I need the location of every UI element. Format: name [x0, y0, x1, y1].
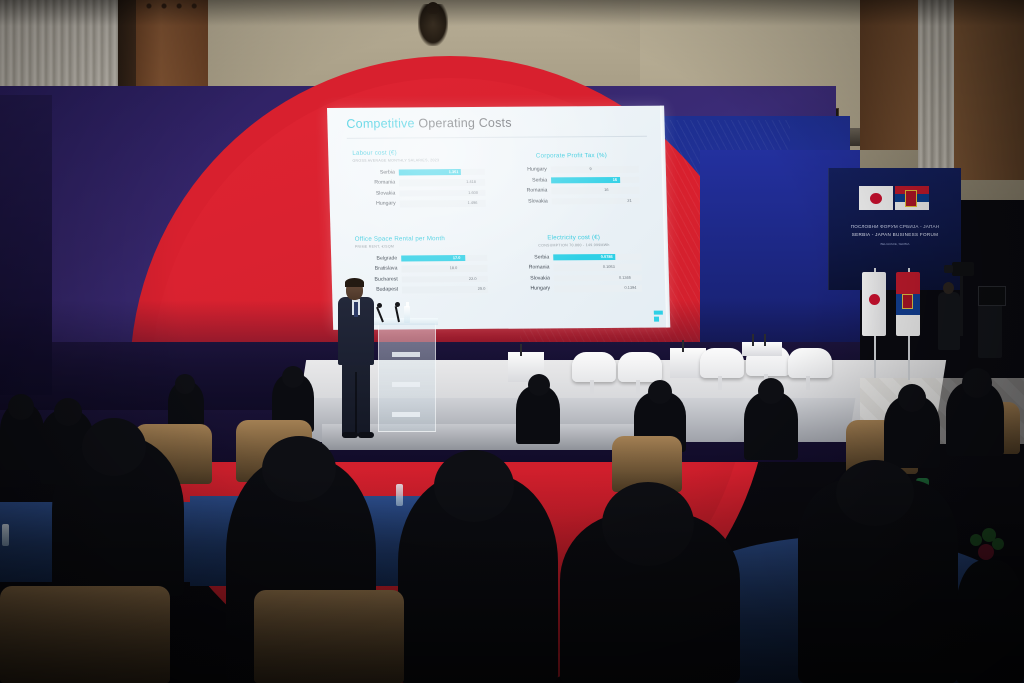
- audience-head: [262, 436, 336, 502]
- chart-title: Electricity cost (€): [507, 234, 641, 242]
- row-track: 1.351: [399, 168, 485, 175]
- banner-title-cyrillic: ПОСЛОВНИ ФОРУМ СРБИЈА - ЈАПАН: [833, 224, 957, 229]
- slide-title-highlight: Competitive: [346, 116, 415, 130]
- serbia-flag: [896, 272, 920, 336]
- slide-title-rest: Operating Costs: [414, 116, 511, 131]
- panel-chair: [618, 352, 662, 382]
- row-value: 1.351: [449, 169, 459, 174]
- row-value: 0.1365: [619, 275, 631, 280]
- monitor-screen: [978, 286, 1006, 306]
- row-track: 0.1394: [554, 285, 642, 292]
- row-track: 15: [551, 176, 639, 183]
- speaker-hair: [345, 278, 364, 287]
- speaker-leg-split: [355, 372, 357, 434]
- water-bottle: [396, 484, 403, 506]
- row-label: Belgrade: [355, 255, 401, 261]
- row-value: 18.0: [450, 265, 458, 270]
- audience-head: [282, 366, 304, 388]
- row-track: 17.0: [401, 254, 487, 261]
- row-track: 9: [551, 166, 639, 173]
- audience-chair-foreground: [0, 586, 170, 683]
- chart-rows: Serbia 1.351 Romania 1.418 Slovakia 1.60…: [353, 166, 486, 209]
- row-label: Slovakia: [353, 190, 399, 196]
- audience-member-foreground: [956, 560, 1024, 683]
- crew-member: [938, 292, 960, 350]
- panel-microphone: [520, 344, 522, 356]
- slide-title: Competitive Operating Costs: [346, 116, 512, 131]
- chart-subtitle: GROSS AVERAGE MONTHLY SALARIES, 2023: [352, 157, 484, 162]
- video-camera: [952, 262, 974, 276]
- podium-shelf: [392, 382, 420, 387]
- row-label: Bratislava: [355, 266, 401, 272]
- row-track: 1.418: [399, 179, 485, 186]
- speaker-shoe: [358, 432, 374, 438]
- podium-shelf: [392, 352, 420, 357]
- audience-head: [758, 378, 784, 404]
- speaker-tie: [354, 302, 358, 317]
- audience-head: [175, 374, 195, 394]
- audience-head: [528, 374, 550, 396]
- row-value: 16: [604, 187, 608, 192]
- panel-chair: [788, 348, 832, 378]
- cyan-logo-mark-icon: [654, 311, 663, 322]
- conference-photo: ПОСЛОВНИ ФОРУМ СРБИЈА - ЈАПАН SERBIA - J…: [0, 0, 1024, 683]
- chart-title: Labour cost (€): [352, 149, 484, 157]
- row-value: 0.1053: [603, 264, 615, 269]
- banner-flags: [859, 186, 931, 212]
- chart-labour-cost: Labour cost (€) GROSS AVERAGE MONTHLY SA…: [352, 149, 486, 209]
- chart-electricity-cost: Electricity cost (€) CONSUMPTION 70.000 …: [507, 234, 643, 294]
- chart-rows: Hungary 9 Serbia 15 Romania 16 Slovakia …: [505, 164, 640, 207]
- audience-head: [962, 368, 992, 398]
- row-label: Slovakia: [506, 198, 552, 204]
- projector-glow: [327, 106, 670, 330]
- chart-rows: Serbia 0.0785 Romania 0.1053 Slovakia 0.…: [507, 251, 642, 294]
- row-value: 22.0: [469, 276, 477, 281]
- row-track: 21: [552, 197, 640, 204]
- ceiling-shadow: [0, 0, 1024, 26]
- row-track: 0.0785: [553, 253, 641, 260]
- chart-row: Hungary 1.496: [354, 198, 486, 209]
- row-bar: [551, 176, 620, 183]
- row-value: 0.1394: [624, 285, 636, 290]
- podium-shelf: [392, 412, 420, 417]
- panel-chair: [572, 352, 616, 382]
- audience-chair-foreground: [254, 590, 404, 683]
- banner-subtitle: BELGRADE, SERBIA: [833, 242, 957, 246]
- audience-head: [8, 394, 34, 420]
- row-label: Romania: [353, 180, 399, 186]
- japan-flag: [862, 272, 886, 336]
- row-label: Hungary: [505, 167, 551, 173]
- crew-member-head: [943, 282, 954, 294]
- row-track: 25.0: [402, 286, 488, 293]
- row-track: 16: [551, 187, 639, 194]
- chart-subtitle: [505, 160, 639, 161]
- row-label: Hungary: [508, 286, 554, 292]
- row-track: 1.496: [400, 200, 486, 207]
- panel-table-front: [742, 342, 782, 356]
- audience-head: [836, 460, 914, 526]
- panel-microphone: [764, 334, 766, 346]
- row-track: 1.600: [399, 189, 485, 196]
- chart-row: Budapest 25.0: [356, 284, 488, 295]
- chart-office-space-rental: Office Space Rental per Month PRIME RENT…: [355, 235, 489, 295]
- row-track: 18.0: [401, 265, 487, 272]
- audience-head: [648, 380, 672, 404]
- row-label: Hungary: [354, 201, 400, 207]
- presentation-slide: Competitive Operating Costs Labour cost …: [327, 106, 670, 330]
- camera-lens: [944, 265, 953, 273]
- row-track: 0.1365: [554, 274, 642, 281]
- microphone-head: [377, 303, 382, 308]
- row-value: 1.496: [468, 200, 478, 205]
- row-track: 0.1053: [553, 264, 641, 271]
- row-value: 1.600: [468, 190, 478, 195]
- chart-title: Office Space Rental per Month: [355, 235, 487, 243]
- speaker-shoe: [342, 432, 358, 438]
- audience-head: [602, 482, 694, 566]
- row-track: 22.0: [402, 275, 488, 282]
- audience-head: [82, 418, 146, 476]
- japan-flag-icon: [859, 186, 893, 210]
- chart-title: Corporate Profit Tax (%): [504, 152, 638, 160]
- forum-banner: ПОСЛОВНИ ФОРУМ СРБИЈА - ЈАПАН SERBIA - J…: [828, 168, 961, 290]
- water-bottle: [2, 524, 9, 546]
- row-value: 21: [627, 198, 631, 203]
- audience-head: [898, 384, 926, 412]
- chart-rows: Belgrade 17.0 Bratislava 18.0 Bucharest …: [355, 252, 488, 295]
- banner-title-latin: SERBIA - JAPAN BUSINESS FORUM: [833, 232, 957, 237]
- panel-microphone: [682, 340, 684, 352]
- row-value: 1.418: [466, 179, 476, 184]
- chart-row: Slovakia 21: [506, 195, 640, 206]
- row-value: 0.0785: [601, 254, 613, 259]
- chart-subtitle: PRIME RENT, €/SQM: [355, 243, 487, 248]
- camera-tripod: [960, 276, 963, 336]
- row-label: Serbia: [507, 254, 553, 260]
- row-label: Romania: [507, 265, 553, 271]
- audience-head: [54, 398, 82, 426]
- water-bottle-podium: [404, 306, 410, 323]
- serbia-flag-icon: [895, 186, 929, 210]
- row-value: 15: [613, 177, 617, 182]
- row-label: Romania: [505, 188, 551, 194]
- row-value: 25.0: [478, 286, 486, 291]
- panel-chair: [700, 348, 744, 378]
- slide-divider: [347, 136, 647, 139]
- wood-pillar-right: [954, 0, 1024, 180]
- chart-row: Hungary 0.1394: [508, 283, 642, 294]
- row-value: 17.0: [453, 255, 461, 260]
- projection-screen: Competitive Operating Costs Labour cost …: [327, 106, 670, 330]
- audience-head: [434, 450, 514, 522]
- panel-microphone: [752, 334, 754, 346]
- row-label: Serbia: [505, 177, 551, 183]
- row-value: 9: [589, 167, 591, 172]
- microphone-head: [395, 302, 400, 307]
- row-label: Serbia: [353, 169, 399, 175]
- row-label: Slovakia: [508, 275, 554, 281]
- chart-corporate-profit-tax: Corporate Profit Tax (%) Hungary 9 Serbi…: [504, 152, 640, 207]
- chart-subtitle: CONSUMPTION 70.000 - 149.999MWh: [507, 242, 641, 247]
